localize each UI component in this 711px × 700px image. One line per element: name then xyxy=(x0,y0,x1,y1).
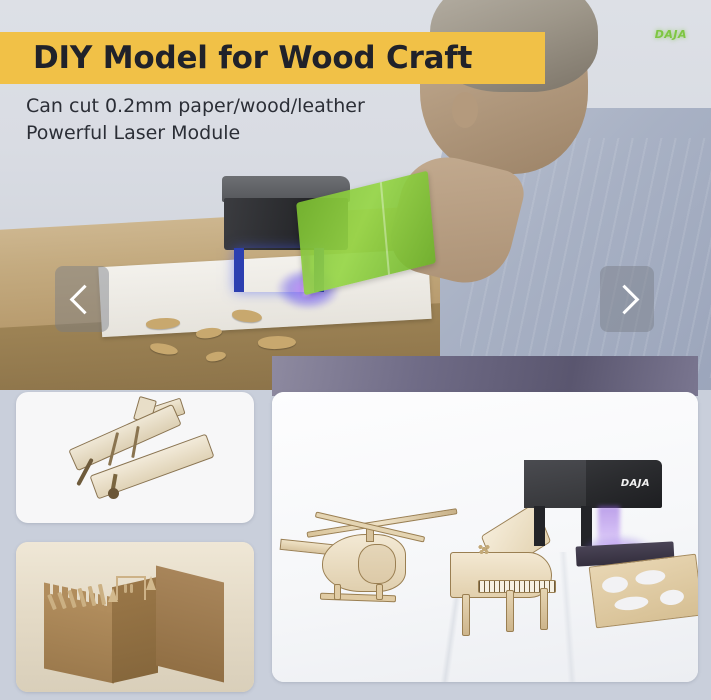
product-detail-page: DAJA DIY Model for Wood Craft Can cut 0.… xyxy=(0,0,711,700)
helicopter-main-rotor xyxy=(306,508,457,538)
subtitle-line-1: Can cut 0.2mm paper/wood/leather xyxy=(26,93,365,120)
helicopter-skid-leg xyxy=(334,584,341,600)
person-ear xyxy=(452,92,478,128)
piano-rosette-decoration xyxy=(478,544,490,554)
laser-cut-wood-panel xyxy=(589,554,698,629)
daja-logo: DAJA xyxy=(655,28,687,41)
subtitle-line-2: Powerful Laser Module xyxy=(26,120,365,147)
gallery-card-airplane[interactable] xyxy=(16,392,254,523)
gallery-card-popup-model[interactable] xyxy=(16,542,254,692)
popup-tree xyxy=(146,576,156,590)
piano-leg xyxy=(462,594,470,636)
wooden-helicopter-model xyxy=(280,510,460,620)
panel-cutout xyxy=(659,588,685,606)
airplane-wheel xyxy=(108,488,119,499)
product-gallery: DAJA xyxy=(0,390,711,700)
piano-leg xyxy=(506,590,514,632)
daja-logo: DAJA xyxy=(621,478,650,489)
helicopter-skid xyxy=(320,593,396,603)
purple-cloth-backdrop xyxy=(272,356,698,396)
popup-right-panel xyxy=(156,566,224,683)
page-title: DIY Model for Wood Craft xyxy=(33,40,472,76)
wooden-airplane-model xyxy=(16,392,254,523)
gallery-card-models[interactable]: DAJA xyxy=(272,392,698,682)
helicopter-skid-leg xyxy=(376,584,383,600)
popup-figure xyxy=(124,584,127,593)
chevron-right-icon xyxy=(610,284,640,314)
laser-engraver-device: DAJA xyxy=(524,460,662,560)
shield-fold-line xyxy=(380,182,390,275)
piano-leg xyxy=(540,588,548,630)
helicopter-window xyxy=(358,544,396,584)
popup-tree xyxy=(108,588,118,602)
headline-banner: DIY Model for Wood Craft xyxy=(0,32,545,84)
panel-cutout xyxy=(601,575,629,594)
carousel-prev-button[interactable] xyxy=(55,266,109,332)
chevron-left-icon xyxy=(70,284,100,314)
panel-cutout xyxy=(635,569,666,587)
popup-figure xyxy=(130,584,133,593)
subtitle-block: Can cut 0.2mm paper/wood/leather Powerfu… xyxy=(26,93,365,147)
kraft-popup-card-model xyxy=(16,542,254,692)
panel-cutout xyxy=(614,595,649,612)
carousel-next-button[interactable] xyxy=(600,266,654,332)
